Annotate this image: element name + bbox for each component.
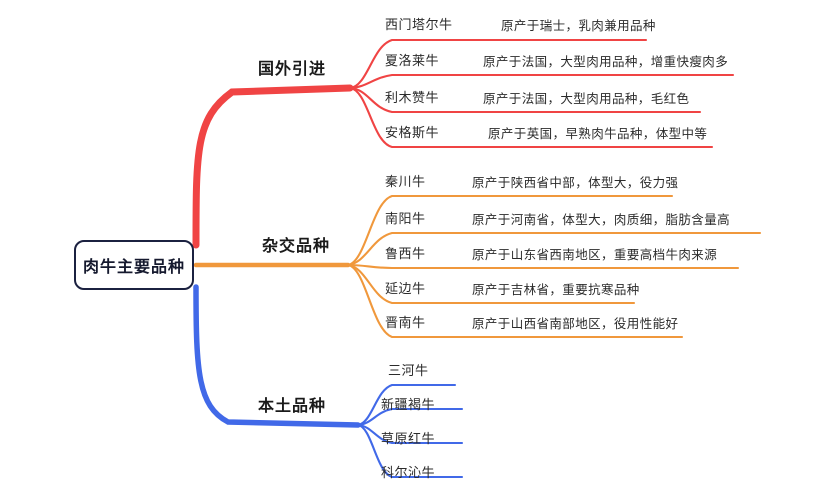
subbranch-hybrid-2 [348,265,738,268]
item-desc-hybrid-2: 原产于山东省西南地区，重要高档牛肉来源 [472,244,717,263]
trunk-foreign [196,88,350,245]
root-node-label: 肉牛主要品种 [83,253,185,277]
root-node[interactable]: 肉牛主要品种 [74,240,194,290]
item-desc-hybrid-0: 原产于陕西省中部，体型大，役力强 [472,172,678,191]
item-label-foreign-3[interactable]: 安格斯牛 [385,122,439,141]
item-label-native-1[interactable]: 新疆褐牛 [381,394,435,413]
item-desc-foreign-0: 原产于瑞士，乳肉兼用品种 [501,15,656,34]
item-label-native-0[interactable]: 三河牛 [388,360,429,379]
item-label-hybrid-4[interactable]: 晋南牛 [385,312,426,331]
item-desc-hybrid-1: 原产于河南省，体型大，肉质细，脂肪含量高 [472,209,730,228]
item-label-native-3[interactable]: 科尔沁牛 [381,462,435,481]
mindmap-canvas: 肉牛主要品种 国外引进 杂交品种 本土品种 西门塔尔牛 原产于瑞士，乳肉兼用品种… [0,0,822,498]
branch-title-hybrid[interactable]: 杂交品种 [262,232,330,256]
item-desc-hybrid-3: 原产于吉林省，重要抗寒品种 [472,279,640,298]
branch-title-foreign[interactable]: 国外引进 [258,55,326,79]
branch-title-native[interactable]: 本土品种 [258,392,326,416]
item-label-hybrid-2[interactable]: 鲁西牛 [385,243,426,262]
item-desc-foreign-2: 原产于法国，大型肉用品种，毛红色 [483,88,689,107]
item-label-foreign-1[interactable]: 夏洛莱牛 [385,50,439,69]
item-desc-foreign-3: 原产于英国，早熟肉牛品种，体型中等 [488,123,707,142]
item-label-hybrid-1[interactable]: 南阳牛 [385,208,426,227]
item-desc-foreign-1: 原产于法国，大型肉用品种，增重快瘦肉多 [483,51,728,70]
item-label-foreign-0[interactable]: 西门塔尔牛 [385,14,453,33]
item-desc-hybrid-4: 原产于山西省南部地区，役用性能好 [472,313,678,332]
item-label-native-2[interactable]: 草原红牛 [381,428,435,447]
item-label-hybrid-3[interactable]: 延边牛 [385,278,426,297]
item-label-foreign-2[interactable]: 利木赞牛 [385,87,439,106]
item-label-hybrid-0[interactable]: 秦川牛 [385,171,426,190]
